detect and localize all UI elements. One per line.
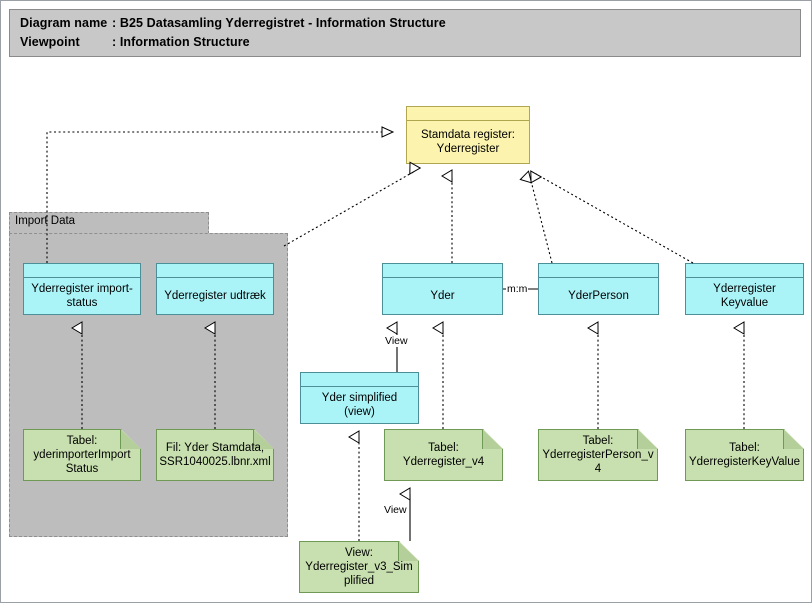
viewpoint-label: Viewpoint [20,35,112,49]
note-n_keyval[interactable]: Tabel:YderregisterKeyValue [685,429,804,481]
note-n_import[interactable]: Tabel:yderimporterImportStatus [23,429,141,481]
viewpoint-value: : Information Structure [112,35,250,49]
note-label-n_person: Tabel:YderregisterPerson_v4 [538,429,658,481]
diagram-name-value: : B25 Datasamling Yderregistret - Inform… [112,16,446,30]
node-yderperson[interactable]: YderPerson [538,263,659,315]
diagram-name-line: Diagram name: B25 Datasamling Yderregist… [20,16,446,30]
node-header [407,107,529,121]
diagram-name-label: Diagram name [20,16,112,30]
node-header [157,264,273,278]
node-header [686,264,803,278]
node-label-stamdata: Stamdata register:Yderregister [407,121,529,163]
node-header [24,264,140,278]
node-label-keyvalue: YderregisterKeyvalue [686,278,803,314]
note-n_person[interactable]: Tabel:YderregisterPerson_v4 [538,429,658,481]
node-header [383,264,502,278]
edge-label-view1: View [384,335,409,347]
note-n_v4[interactable]: Tabel:Yderregister_v4 [384,429,503,481]
diagram-canvas: Diagram name: B25 Datasamling Yderregist… [0,0,812,603]
note-label-n_v4: Tabel:Yderregister_v4 [384,429,503,481]
note-n_fil[interactable]: Fil: Yder Stamdata,SSR1040025.lbnr.xml [156,429,274,481]
viewpoint-line: Viewpoint: Information Structure [20,35,250,49]
node-label-import_status: Yderregister import-status [24,278,140,314]
group-import-data-label: Import Data [15,215,75,227]
node-header [539,264,658,278]
node-yder[interactable]: Yder [382,263,503,315]
note-label-n_v3: View:Yderregister_v3_Simplified [299,541,419,593]
note-label-n_import: Tabel:yderimporterImportStatus [23,429,141,481]
node-udtraek[interactable]: Yderregister udtræk [156,263,274,315]
node-label-yderperson: YderPerson [539,278,658,314]
connector-yderperson-to-stamdata [530,177,552,263]
edge-label-view2: View [383,504,408,516]
node-header [301,373,418,387]
note-n_v3[interactable]: View:Yderregister_v3_Simplified [299,541,419,593]
node-yder_simpl[interactable]: Yder simplified(view) [300,372,419,424]
connector-keyvalue-to-stamdata [536,174,693,263]
edge-label-mm: m:m [506,283,528,295]
connector-udtraek-to-stamdata [284,171,415,246]
node-stamdata[interactable]: Stamdata register:Yderregister [406,106,530,164]
note-label-n_fil: Fil: Yder Stamdata,SSR1040025.lbnr.xml [156,429,274,481]
node-keyvalue[interactable]: YderregisterKeyvalue [685,263,804,315]
note-label-n_keyval: Tabel:YderregisterKeyValue [685,429,804,481]
node-label-udtraek: Yderregister udtræk [157,278,273,314]
node-label-yder: Yder [383,278,502,314]
node-import_status[interactable]: Yderregister import-status [23,263,141,315]
node-label-yder_simpl: Yder simplified(view) [301,387,418,423]
diagram-header: Diagram name: B25 Datasamling Yderregist… [9,9,801,57]
